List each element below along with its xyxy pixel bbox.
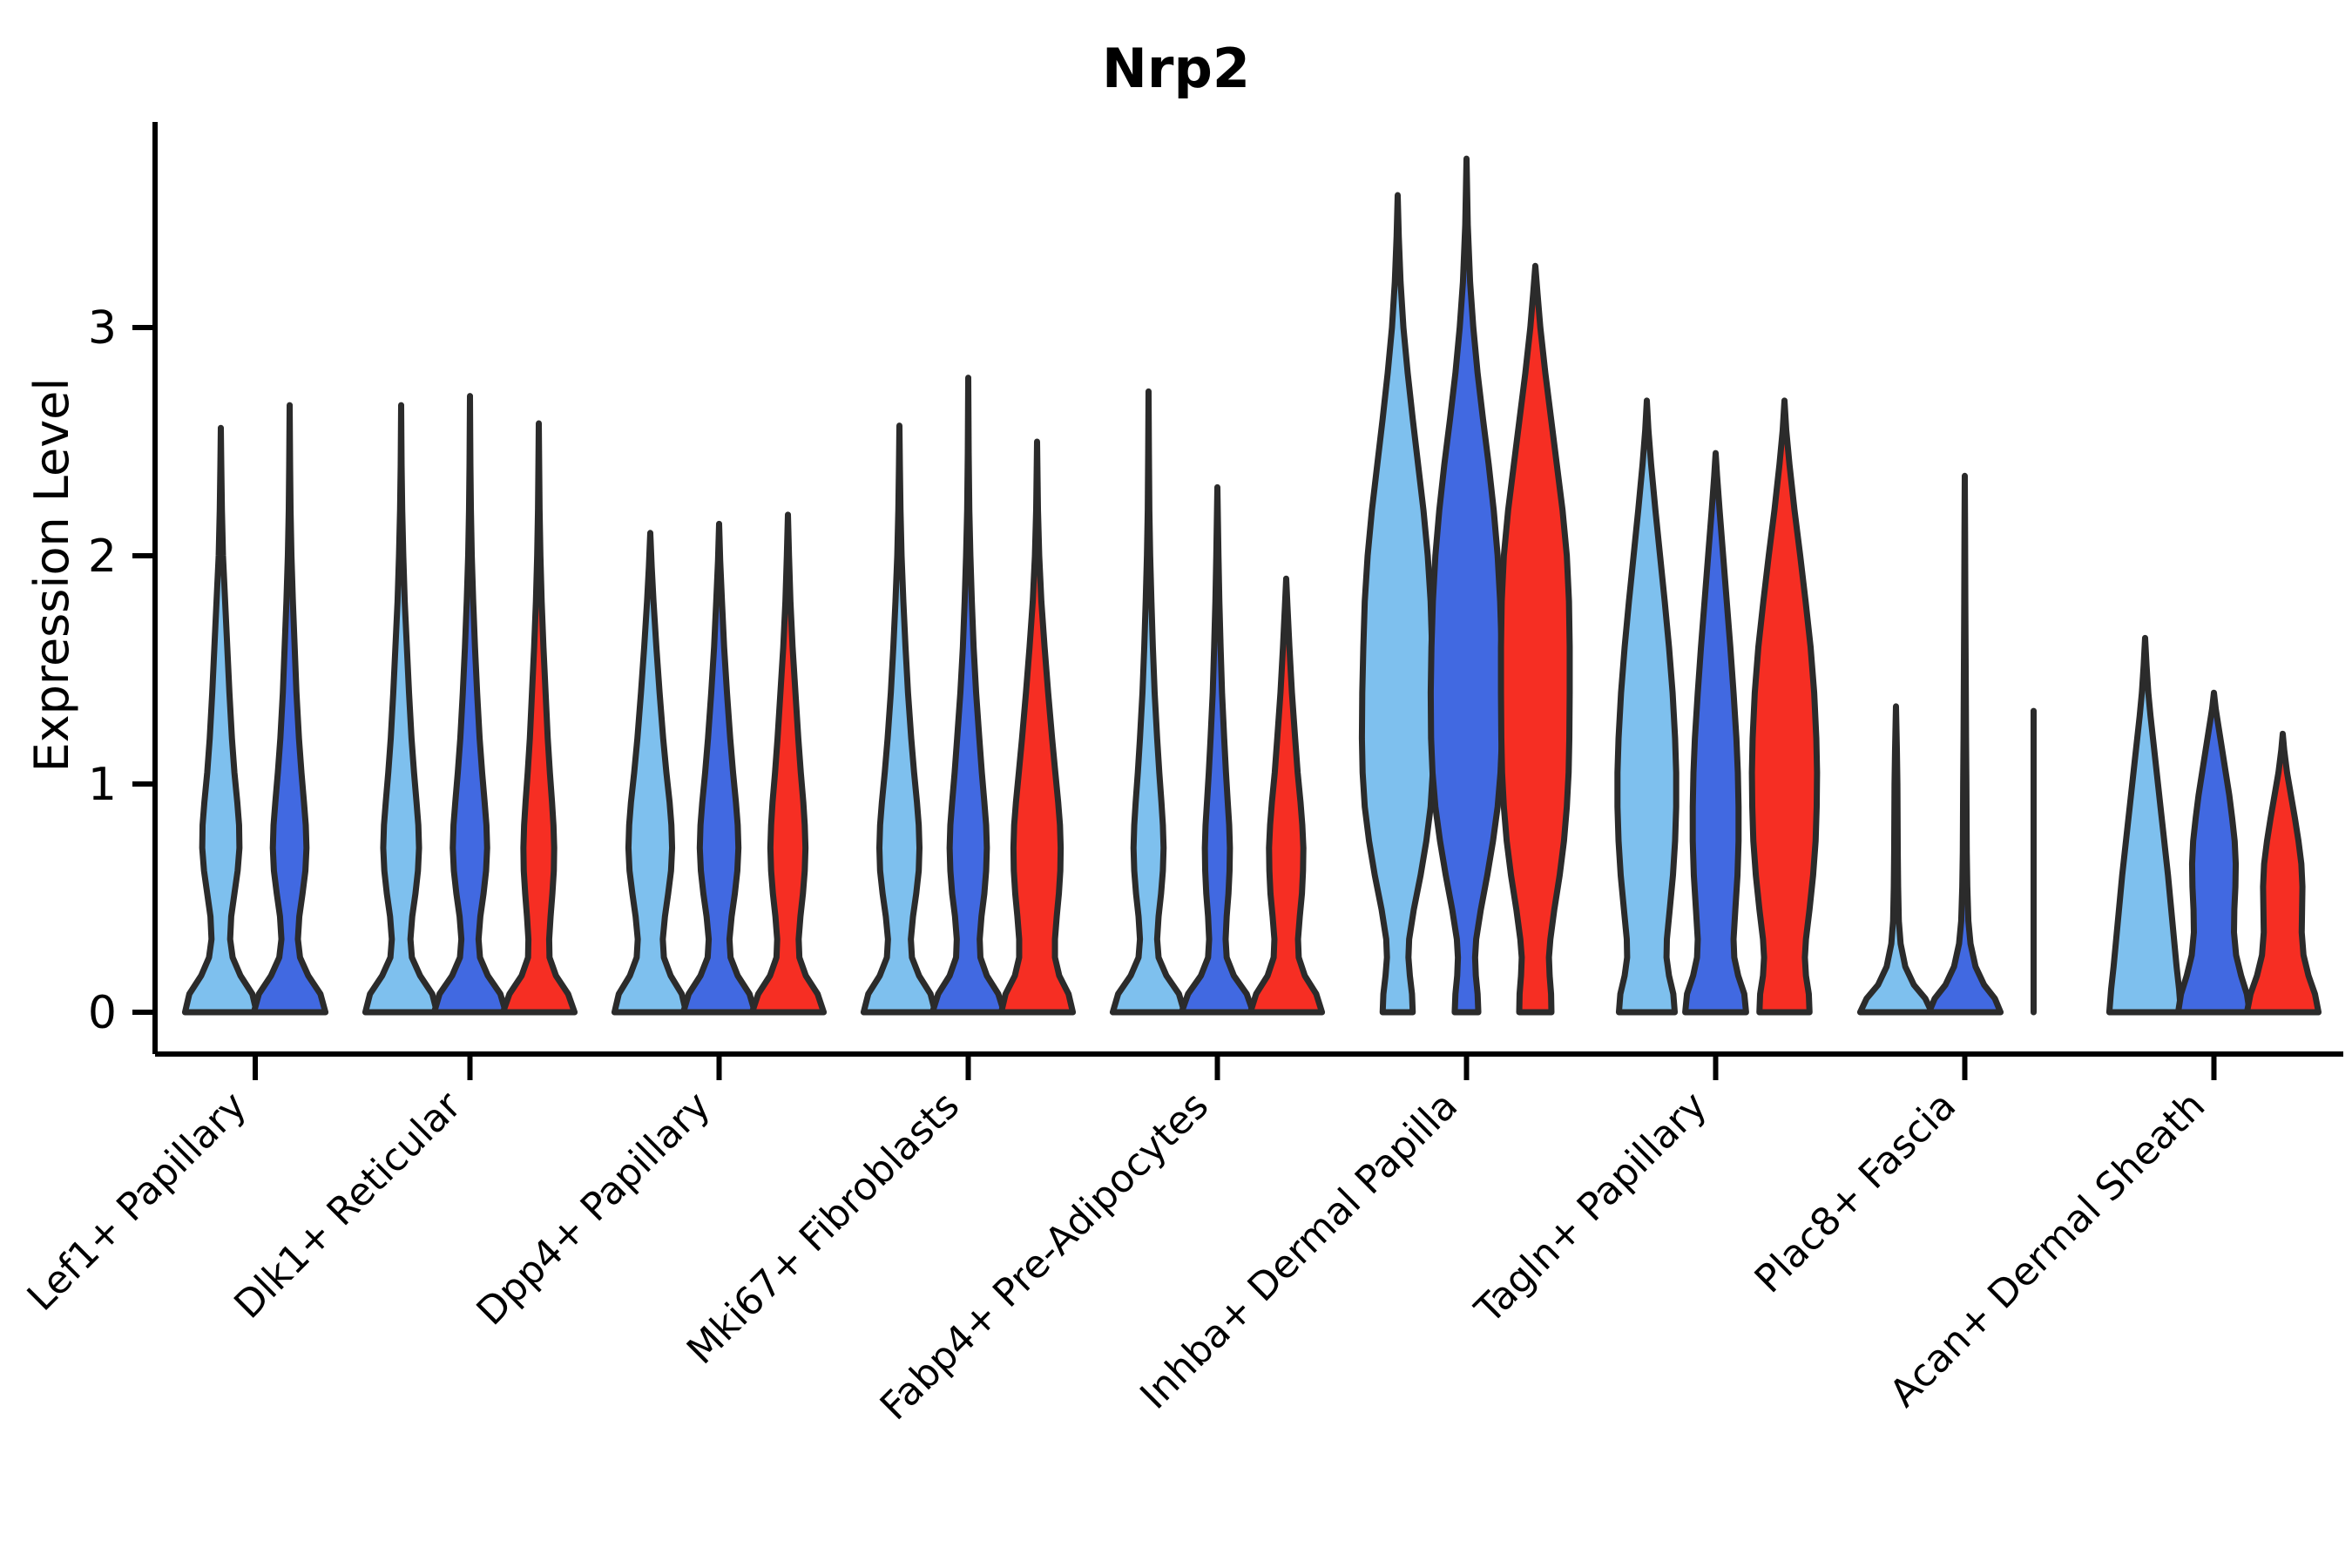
violin-shape	[434, 396, 505, 1012]
violin-shape	[2247, 733, 2318, 1012]
violin-shape	[253, 405, 325, 1012]
violin-shape	[1618, 401, 1676, 1012]
x-tick-label: Dpp4+ Papillary	[469, 1084, 720, 1335]
violin-shape	[2109, 638, 2180, 1012]
violin-shape	[1929, 476, 2000, 1012]
violin-shape	[1501, 266, 1570, 1012]
x-tick-label: Dlk1+ Reticular	[226, 1083, 470, 1328]
x-tick-label: Tagln+ Papillary	[1466, 1084, 1715, 1333]
violin-shape	[2178, 693, 2249, 1012]
y-tick-label: 3	[88, 302, 117, 355]
x-tick-label: Mki67+ Fibroblasts	[679, 1084, 968, 1373]
y-axis-label: Expression Level	[24, 378, 79, 773]
violin-plot-figure: Nrp2 Expression Level 0123 Lef1+ Papilla…	[0, 0, 2352, 1568]
violin-shape	[1752, 401, 1817, 1012]
violin-shape	[752, 515, 823, 1012]
violin-shape	[1686, 453, 1747, 1012]
violin-shape	[365, 405, 436, 1012]
plot-canvas: Nrp2 Expression Level 0123 Lef1+ Papilla…	[0, 0, 2352, 1568]
violin-shape	[1250, 578, 1321, 1012]
violin-shape	[932, 378, 1004, 1012]
y-tick-label: 0	[88, 987, 117, 1039]
x-tick-label: Plac8+ Fascia	[1747, 1084, 1965, 1302]
y-axis: 0123	[88, 122, 155, 1054]
violin-shape	[1181, 487, 1253, 1012]
violin-shape	[503, 423, 574, 1012]
page-title: Nrp2	[1102, 37, 1250, 100]
violin-shape	[863, 426, 935, 1012]
y-tick-label: 1	[88, 759, 117, 811]
violin-shape	[1860, 706, 1931, 1012]
violin-shape	[185, 428, 256, 1012]
violin-shape	[1430, 159, 1502, 1012]
violin-shape	[1362, 195, 1433, 1012]
y-tick-label: 2	[88, 531, 117, 583]
violin-shape	[1001, 442, 1072, 1012]
violin-series-layer	[185, 159, 2318, 1012]
x-axis	[155, 1054, 2343, 1080]
x-tick-label: Lef1+ Papillary	[19, 1084, 255, 1320]
violin-shape	[683, 524, 754, 1012]
violin-shape	[1112, 391, 1184, 1012]
violin-shape	[614, 533, 686, 1012]
x-tick-label-layer: Lef1+ PapillaryDlk1+ ReticularDpp4+ Papi…	[19, 1083, 2214, 1429]
